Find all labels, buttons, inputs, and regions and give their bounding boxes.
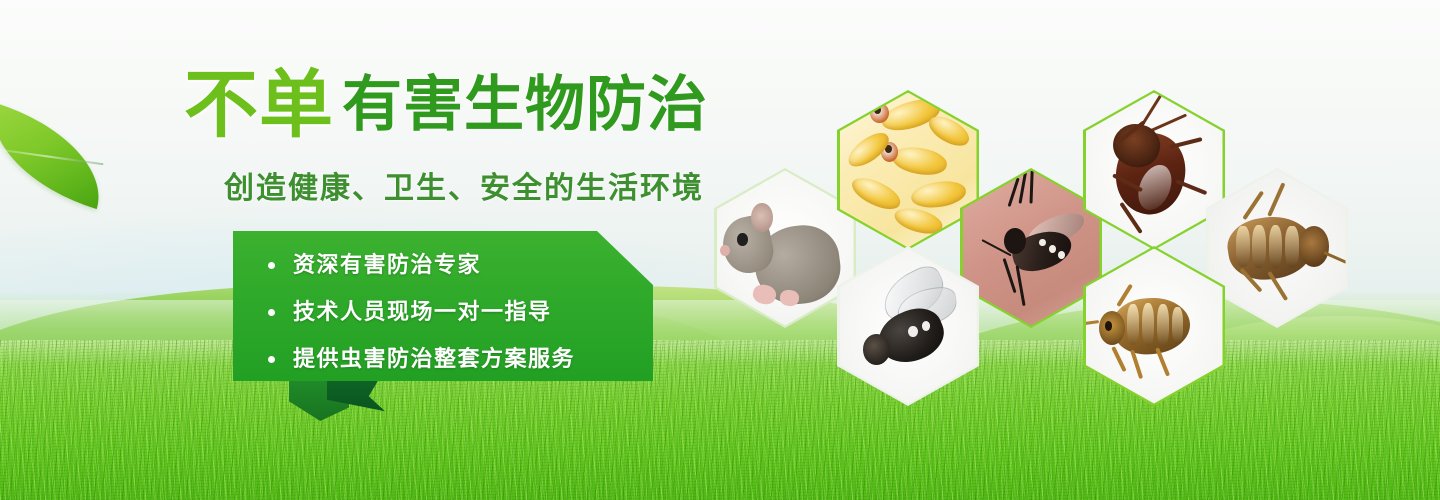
- features-ribbon: 资深有害防治专家 技术人员现场一对一指导 提供虫害防治整套方案服务: [233, 231, 653, 441]
- list-item-label: 资深有害防治专家: [293, 252, 481, 277]
- termite-eye: [874, 106, 881, 114]
- headline-rest: 有害生物防治: [342, 74, 708, 136]
- hex-image-fly: [840, 249, 977, 404]
- hex-tile-termite: [837, 90, 979, 250]
- hex-image-mosquito: [963, 171, 1100, 326]
- bullet-icon: [268, 356, 275, 363]
- headline-highlight: 不单: [184, 70, 334, 140]
- list-item: 资深有害防治专家: [263, 243, 643, 287]
- list-item: 技术人员现场一对一指导: [263, 290, 643, 334]
- cockroach-leg: [1170, 137, 1203, 149]
- fly-head: [863, 334, 890, 365]
- tagline: 创造健康、卫生、安全的生活环境: [224, 163, 704, 207]
- rat-nose: [720, 245, 730, 256]
- termite-body: [892, 204, 945, 238]
- fly-highlight: [922, 321, 930, 330]
- cockroach-photo: [1086, 93, 1223, 248]
- hex-tile-fly: [837, 246, 979, 406]
- fly-highlight: [908, 326, 918, 337]
- pest-hexagon-cluster: [700, 80, 1440, 410]
- body-segment: [1285, 226, 1299, 266]
- termites-photo: [840, 93, 977, 248]
- hex-image-cockroach: [1086, 93, 1223, 248]
- body-segment: [1127, 304, 1139, 344]
- hex-tile-cockroach-nymph: [1206, 168, 1348, 328]
- bullet-icon: [268, 309, 275, 316]
- body-segment: [1142, 303, 1154, 346]
- bedbug-antenna: [1086, 320, 1100, 326]
- list-item: 提供虫害防治整套方案服务: [263, 337, 643, 381]
- ribbon-panel: 资深有害防治专家 技术人员现场一对一指导 提供虫害防治整套方案服务: [233, 231, 653, 381]
- mosquito-head: [1004, 228, 1026, 254]
- list-item-label: 技术人员现场一对一指导: [293, 299, 552, 324]
- termite-body: [909, 179, 967, 211]
- page-title: 不单 有害生物防治: [184, 70, 708, 140]
- mosquito-leg: [1016, 265, 1026, 306]
- cockroach-nymph-leg: [1267, 183, 1285, 217]
- termite-body: [890, 144, 949, 179]
- rat-hindfoot: [779, 289, 800, 306]
- bedbug-leg: [1111, 346, 1127, 372]
- mosquito-leg: [1030, 171, 1034, 204]
- bullet-icon: [268, 262, 275, 269]
- hex-tile-mosquito: [960, 168, 1102, 328]
- body-segment: [1172, 307, 1183, 343]
- bedbug-head: [1099, 311, 1125, 345]
- hex-tile-bedbug: [1083, 246, 1225, 406]
- hex-image-rat: [717, 171, 854, 326]
- hex-image-termite: [840, 93, 977, 248]
- mosquito-photo: [963, 171, 1100, 326]
- cockroach-nymph-head: [1299, 226, 1329, 266]
- mosquito-marking: [1049, 245, 1056, 253]
- termite-body: [848, 172, 905, 216]
- list-item-label: 提供虫害防治整套方案服务: [293, 346, 575, 371]
- pest-control-hero-banner: 不单 有害生物防治 创造健康、卫生、安全的生活环境 资深有害防治专家 技术人员现…: [0, 0, 1440, 500]
- hex-tile-rat: [714, 168, 856, 328]
- rat-photo: [717, 171, 854, 326]
- fly-photo: [840, 249, 977, 404]
- feature-list: 资深有害防治专家 技术人员现场一对一指导 提供虫害防治整套方案服务: [263, 243, 643, 384]
- bedbug-eye: [1105, 321, 1112, 330]
- termite-body: [925, 111, 974, 152]
- body-segment: [1157, 304, 1169, 346]
- body-segment: [1269, 225, 1283, 268]
- body-segment: [1252, 225, 1266, 268]
- hex-tile-cockroach: [1083, 90, 1225, 250]
- cockroach-nymph-photo: [1209, 171, 1346, 326]
- hex-image-bedbug: [1086, 249, 1223, 404]
- bedbug-photo: [1086, 249, 1223, 404]
- mosquito-leg: [1019, 171, 1028, 204]
- cockroach-nymph-leg: [1242, 191, 1264, 220]
- rat-ear: [751, 203, 773, 232]
- body-segment: [1236, 226, 1250, 266]
- hex-image-cockroach-nymph: [1209, 171, 1346, 326]
